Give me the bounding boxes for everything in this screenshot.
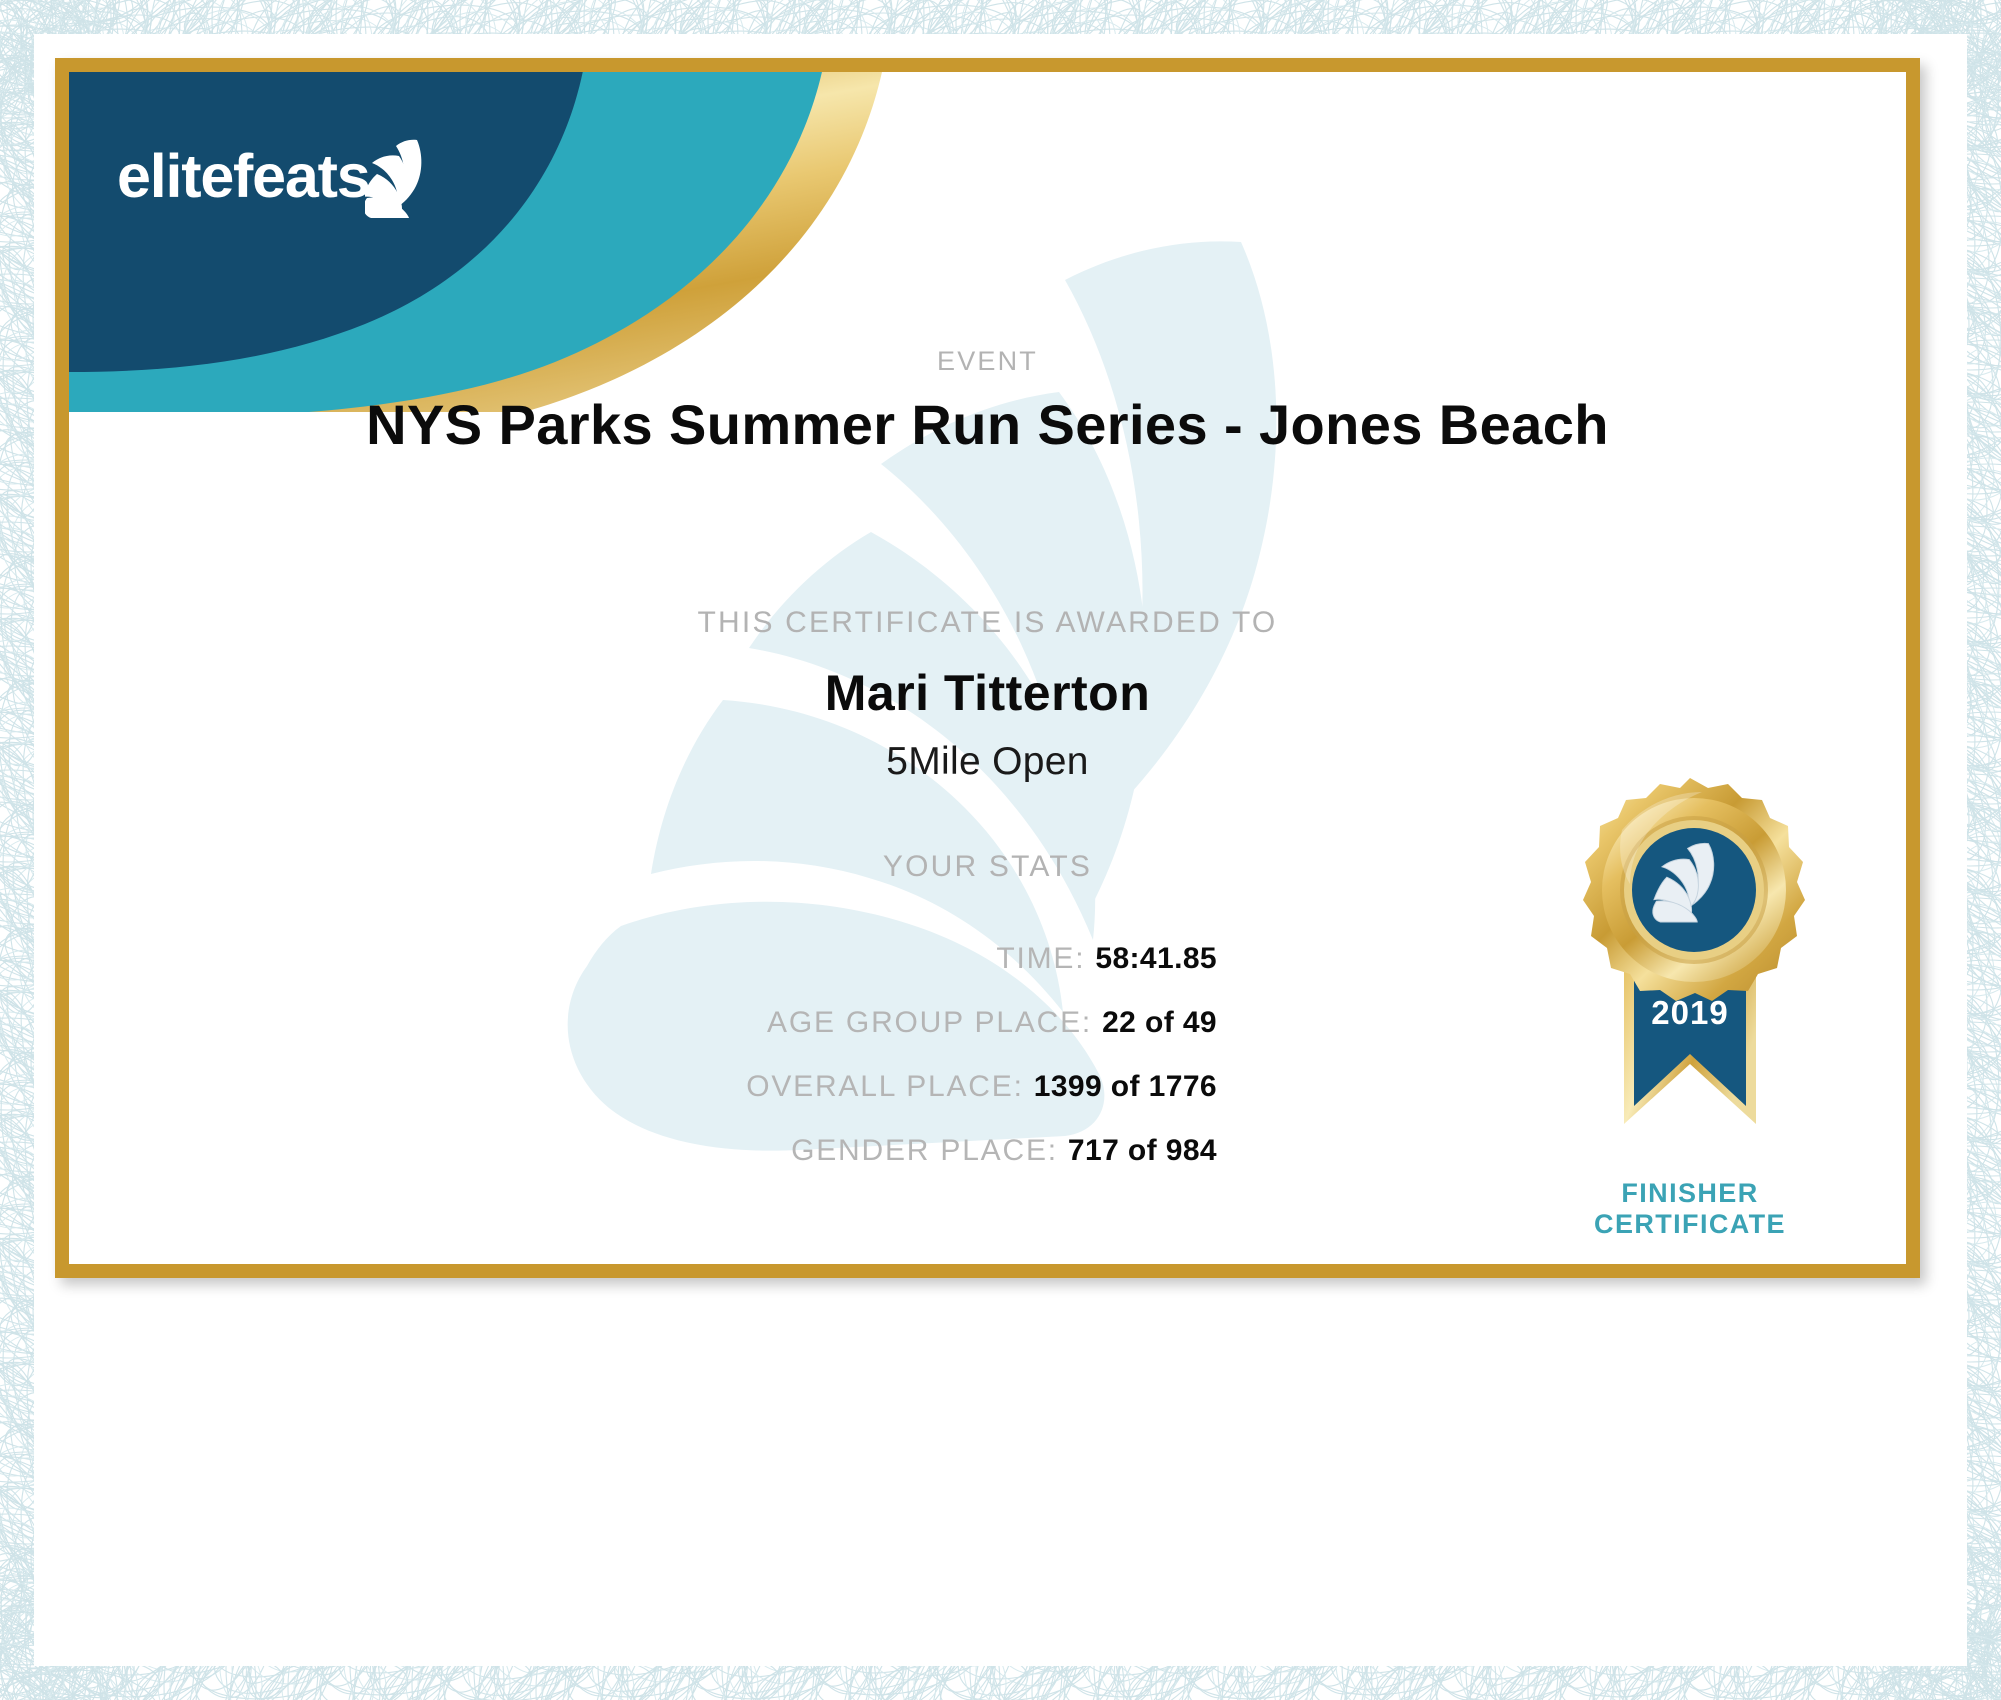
finisher-caption-line1: FINISHER	[1540, 1178, 1840, 1209]
event-label: EVENT	[69, 346, 1906, 377]
stat-label-gender-place: GENDER PLACE:	[791, 1119, 1058, 1183]
stat-label-time: TIME:	[996, 927, 1085, 991]
stat-row-time: TIME: 58:41.85	[337, 927, 1217, 991]
finisher-medal-block: 2019 FINISHER CERTIFICATE	[1540, 772, 1840, 1241]
brand-logo: elitefeats	[117, 134, 437, 218]
certificate-card: elitefeats EVENT NYS Parks Summer Run Se…	[55, 58, 1920, 1278]
stat-row-gender-place: GENDER PLACE: 717 of 984	[337, 1119, 1217, 1183]
certificate-inner: elitefeats EVENT NYS Parks Summer Run Se…	[69, 72, 1906, 1264]
stat-label-age-group-place: AGE GROUP PLACE:	[767, 991, 1092, 1055]
recipient-name: Mari Titterton	[69, 664, 1906, 722]
stat-value-age-group-place: 22 of 49	[1102, 991, 1217, 1055]
brand-logo-text: elitefeats	[117, 146, 369, 207]
stat-value-time: 58:41.85	[1095, 927, 1217, 991]
stat-label-overall-place: OVERALL PLACE:	[746, 1055, 1024, 1119]
certificate-page: elitefeats EVENT NYS Parks Summer Run Se…	[0, 0, 2001, 1700]
finisher-certificate-caption: FINISHER CERTIFICATE	[1540, 1178, 1840, 1241]
stat-row-overall-place: OVERALL PLACE: 1399 of 1776	[337, 1055, 1217, 1119]
winged-foot-icon	[365, 138, 437, 218]
stat-value-overall-place: 1399 of 1776	[1034, 1055, 1217, 1119]
event-title: NYS Parks Summer Run Series - Jones Beac…	[69, 392, 1906, 457]
stat-row-age-group-place: AGE GROUP PLACE: 22 of 49	[337, 991, 1217, 1055]
awarded-to-label: THIS CERTIFICATE IS AWARDED TO	[69, 606, 1906, 640]
medal-ribbon-year: 2019	[1651, 994, 1728, 1031]
finisher-caption-line2: CERTIFICATE	[1540, 1209, 1840, 1240]
award-medal-icon: 2019	[1562, 772, 1818, 1172]
stats-table: TIME: 58:41.85 AGE GROUP PLACE: 22 of 49…	[337, 927, 1217, 1183]
stat-value-gender-place: 717 of 984	[1068, 1119, 1217, 1183]
